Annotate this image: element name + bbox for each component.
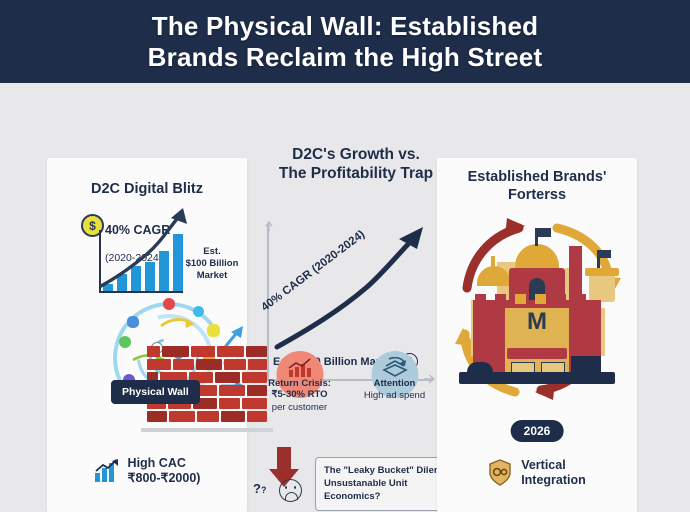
leaky-bucket-section: ?? The "Leaky Bucket" Dilemma: Unsustana… bbox=[247, 443, 447, 503]
merlon bbox=[575, 294, 586, 304]
left-panel-title: D2C Digital Blitz bbox=[47, 180, 247, 198]
app-icon-pin bbox=[163, 298, 175, 310]
right-footer-vertical-integration: Vertical Integration bbox=[437, 458, 637, 488]
merlon bbox=[555, 294, 566, 304]
shop-awning bbox=[507, 348, 567, 359]
merlon bbox=[475, 294, 486, 304]
app-icon-mail bbox=[127, 316, 139, 328]
flag-center bbox=[537, 228, 551, 237]
flag-right bbox=[599, 250, 611, 258]
metric-attention: Attention High ad spend bbox=[352, 351, 437, 413]
left-market-note: Est. $100 Billion Market bbox=[183, 246, 241, 282]
return-crisis-sub: per customer bbox=[257, 402, 342, 413]
infographic-stage: D2C Digital Blitz $ 40% CAGR (2020-2024) bbox=[0, 83, 690, 512]
merlon bbox=[515, 294, 526, 304]
fortress-monogram: M bbox=[527, 308, 547, 336]
foreground-building bbox=[571, 356, 601, 374]
center-metrics: Return Crisis: ₹5-30% RTO per customer A… bbox=[257, 351, 437, 413]
swirl-arrow-icon bbox=[159, 316, 197, 332]
app-icon-whatsapp bbox=[119, 336, 131, 348]
left-panel-d2c-digital-blitz: D2C Digital Blitz $ 40% CAGR (2020-2024) bbox=[47, 158, 247, 512]
metric-return-crisis: Return Crisis: ₹5-30% RTO per customer bbox=[257, 351, 342, 413]
physical-wall-badge: Physical Wall bbox=[111, 380, 200, 404]
left-footer-high-cac: High CAC ₹800-₹2000) bbox=[47, 456, 247, 486]
fortress-illustration: M bbox=[445, 216, 629, 406]
attention-sub: High ad spend bbox=[352, 390, 437, 401]
watch-tower-top bbox=[585, 268, 619, 276]
right-panel-title: Established Brands' Forterss bbox=[437, 168, 637, 204]
question-marks: ?? bbox=[253, 481, 266, 496]
shield-gears-icon bbox=[488, 459, 512, 487]
center-column: D2C's Growth vs. The Profitability Trap … bbox=[247, 83, 437, 512]
right-panel-established-brands: Established Brands' Forterss bbox=[437, 158, 637, 512]
page-title: The Physical Wall: Established Brands Re… bbox=[148, 11, 543, 72]
year-badge-2026: 2026 bbox=[511, 420, 564, 442]
watch-tower bbox=[589, 274, 615, 302]
return-crisis-headline: Return Crisis: ₹5-30% RTO bbox=[257, 378, 342, 401]
dome-spire-left bbox=[491, 256, 495, 268]
vertical-integration-label: Vertical Integration bbox=[521, 458, 586, 488]
sad-face-icon bbox=[279, 479, 302, 502]
foreground-building bbox=[467, 362, 493, 374]
merlon bbox=[495, 294, 506, 304]
page-header: The Physical Wall: Established Brands Re… bbox=[0, 0, 690, 83]
high-cac-label: High CAC ₹800-₹2000) bbox=[128, 456, 201, 486]
bar-chart-up-icon bbox=[94, 459, 120, 483]
merlon bbox=[535, 294, 546, 304]
attention-headline: Attention bbox=[352, 378, 437, 389]
trend-arrow-icon bbox=[95, 202, 195, 294]
